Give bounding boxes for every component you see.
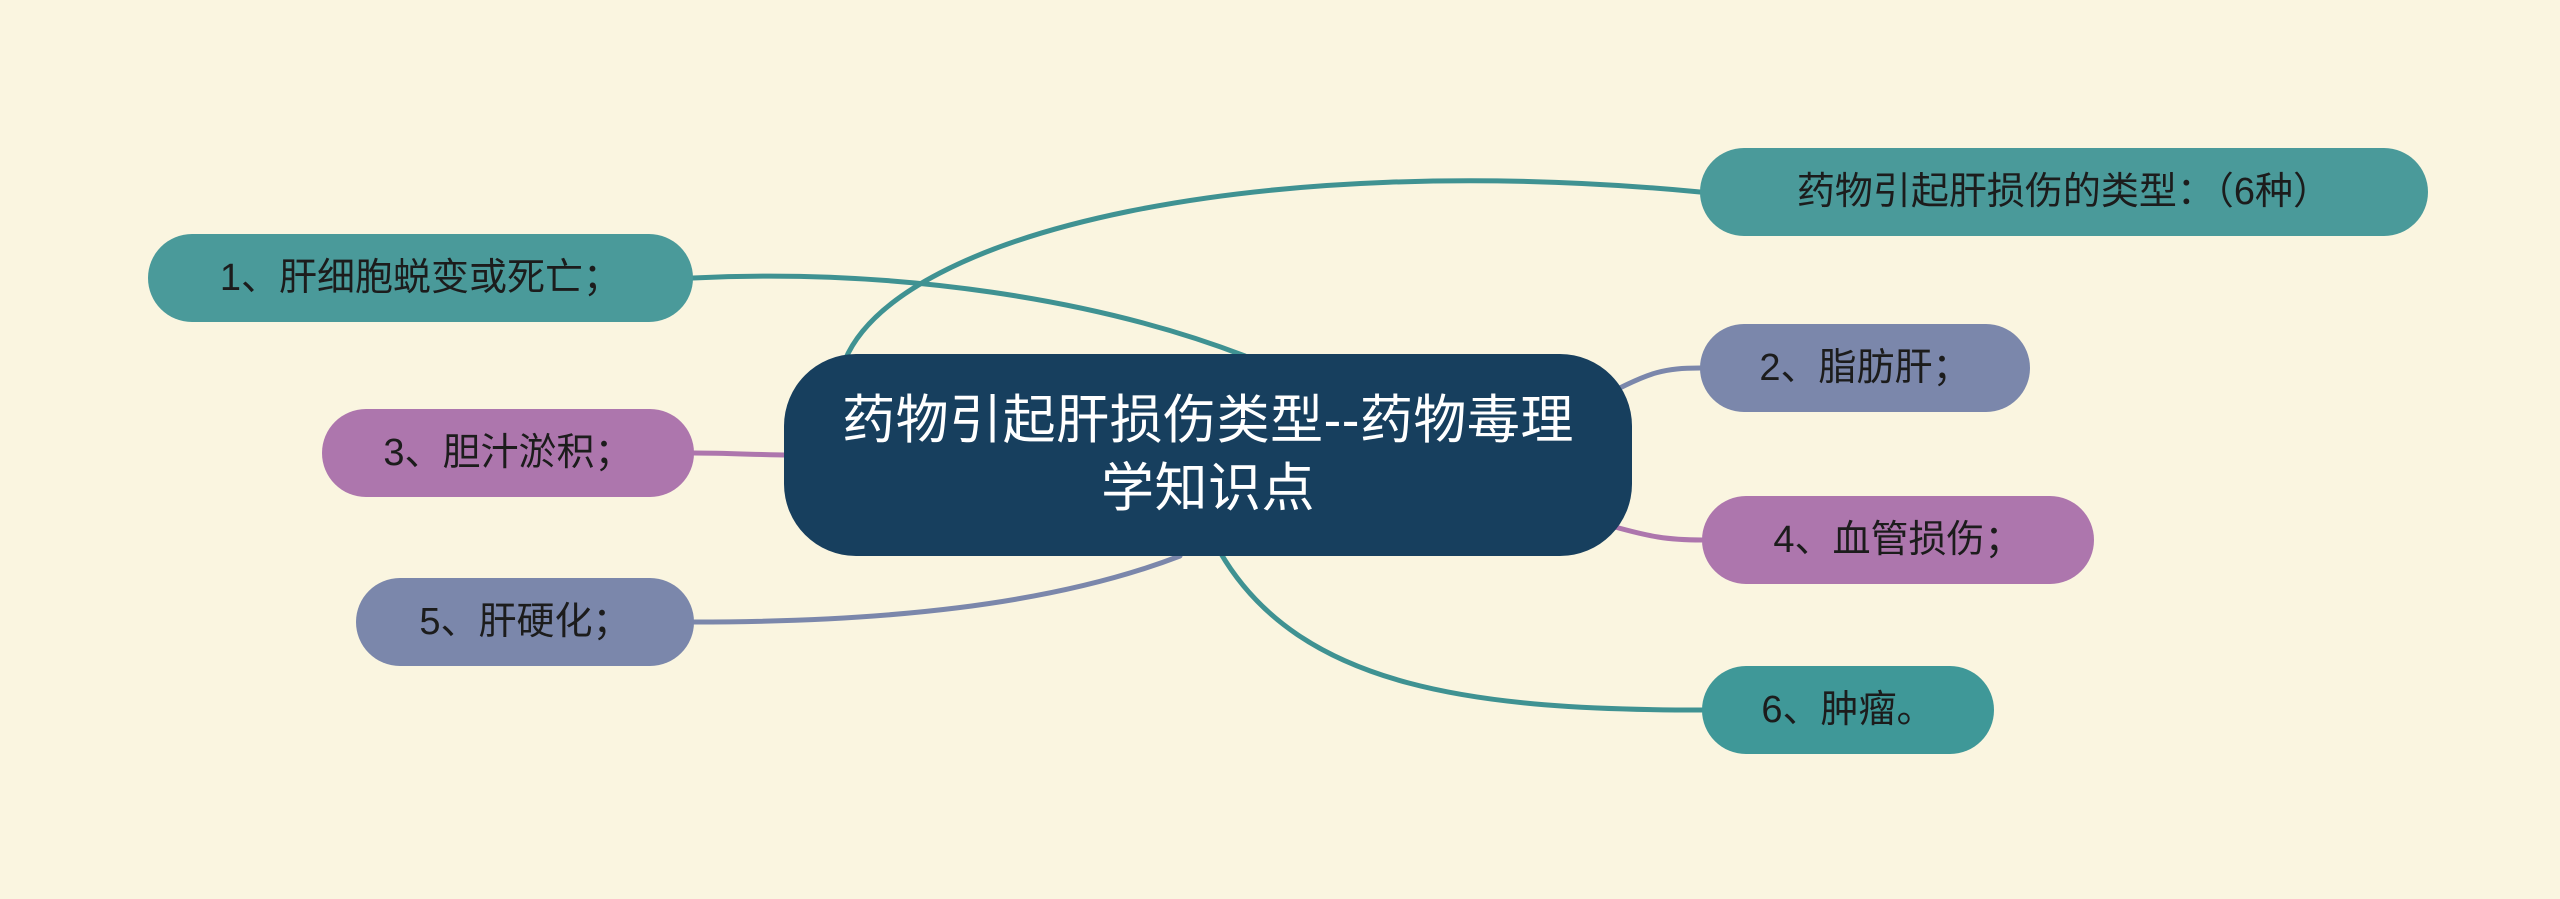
branch-node-2-label: 2、脂肪肝； bbox=[1700, 344, 2030, 393]
connector-center-to-node-6 bbox=[1220, 552, 1702, 710]
branch-node-3-label: 3、胆汁淤积； bbox=[322, 429, 694, 478]
connector-center-to-node-3 bbox=[694, 453, 790, 455]
connector-center-to-node-5 bbox=[694, 556, 1180, 622]
branch-node-header[interactable]: 药物引起肝损伤的类型：（6种） bbox=[1700, 148, 2428, 236]
branch-node-1[interactable]: 1、肝细胞蜕变或死亡； bbox=[148, 234, 693, 322]
branch-node-3[interactable]: 3、胆汁淤积； bbox=[322, 409, 694, 497]
branch-node-5[interactable]: 5、肝硬化； bbox=[356, 578, 694, 666]
connector-center-to-header bbox=[845, 181, 1700, 360]
connector-center-to-node-4 bbox=[1608, 525, 1702, 540]
branch-node-6[interactable]: 6、肿瘤。 bbox=[1702, 666, 1994, 754]
connector-center-to-node-2 bbox=[1610, 368, 1700, 393]
branch-node-header-label: 药物引起肝损伤的类型：（6种） bbox=[1700, 168, 2428, 217]
branch-node-4-label: 4、血管损伤； bbox=[1702, 516, 2094, 565]
mindmap-canvas: 药物引起肝损伤类型--药物毒理学知识点 药物引起肝损伤的类型：（6种） 1、肝细… bbox=[0, 0, 2560, 899]
branch-node-4[interactable]: 4、血管损伤； bbox=[1702, 496, 2094, 584]
branch-node-2[interactable]: 2、脂肪肝； bbox=[1700, 324, 2030, 412]
connector-center-to-node-1 bbox=[693, 276, 1245, 356]
branch-node-6-label: 6、肿瘤。 bbox=[1702, 686, 1994, 735]
branch-node-5-label: 5、肝硬化； bbox=[356, 598, 694, 647]
center-node-label: 药物引起肝损伤类型--药物毒理学知识点 bbox=[838, 387, 1578, 523]
center-node[interactable]: 药物引起肝损伤类型--药物毒理学知识点 bbox=[784, 354, 1632, 556]
branch-node-1-label: 1、肝细胞蜕变或死亡； bbox=[148, 254, 693, 303]
